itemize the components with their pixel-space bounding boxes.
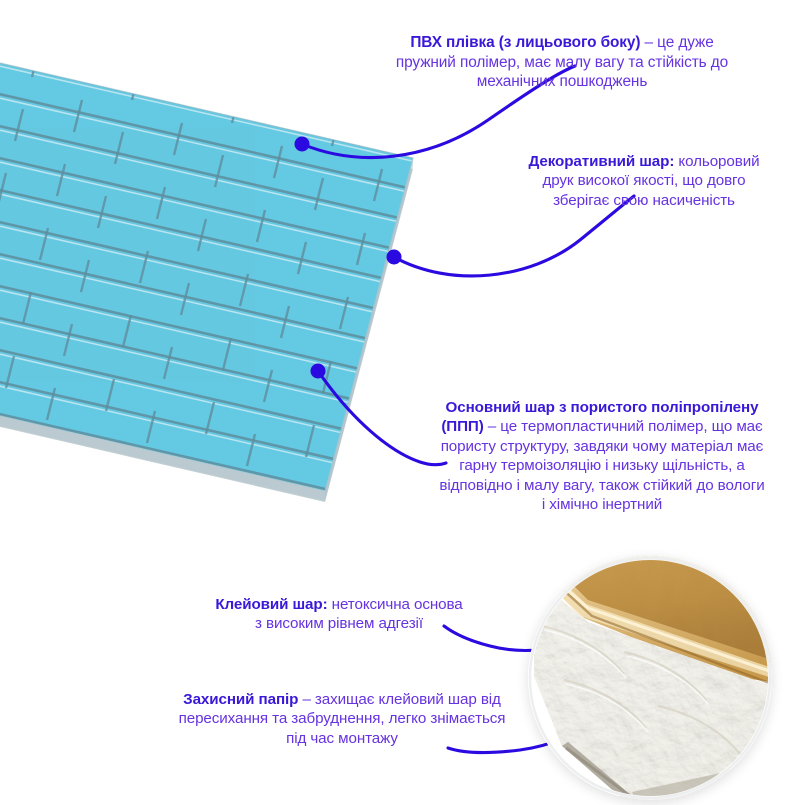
callout-pvc-film-title: ПВХ плівка (з лицьового боку) xyxy=(410,34,640,51)
inset-photo-panel-corner[interactable] xyxy=(528,556,772,800)
callout-base-layer: Основний шар з пористого поліпропілену (… xyxy=(404,398,800,515)
callout-decorative-layer-title: Декоративний шар: xyxy=(529,153,675,170)
callout-decorative-layer: Декоративний шар: кольоровий друк високо… xyxy=(488,152,800,210)
callout-pvc-film: ПВХ плівка (з лицьового боку) – це дуже … xyxy=(352,33,772,92)
infographic-canvas: ПВХ плівка (з лицьового боку) – це дуже … xyxy=(0,0,800,800)
callout-adhesive-layer: Клейовий шар: нетоксична основа з високи… xyxy=(178,595,500,634)
callout-adhesive-layer-title: Клейовий шар: xyxy=(215,596,327,613)
inset-photo-svg xyxy=(528,556,772,800)
callout-protective-paper: Захисний папір – захищає клейовий шар ві… xyxy=(140,690,544,748)
callout-protective-paper-title: Захисний папір xyxy=(183,691,298,708)
callout-base-layer-body: – це термопластичний полімер, що має пор… xyxy=(439,418,764,513)
